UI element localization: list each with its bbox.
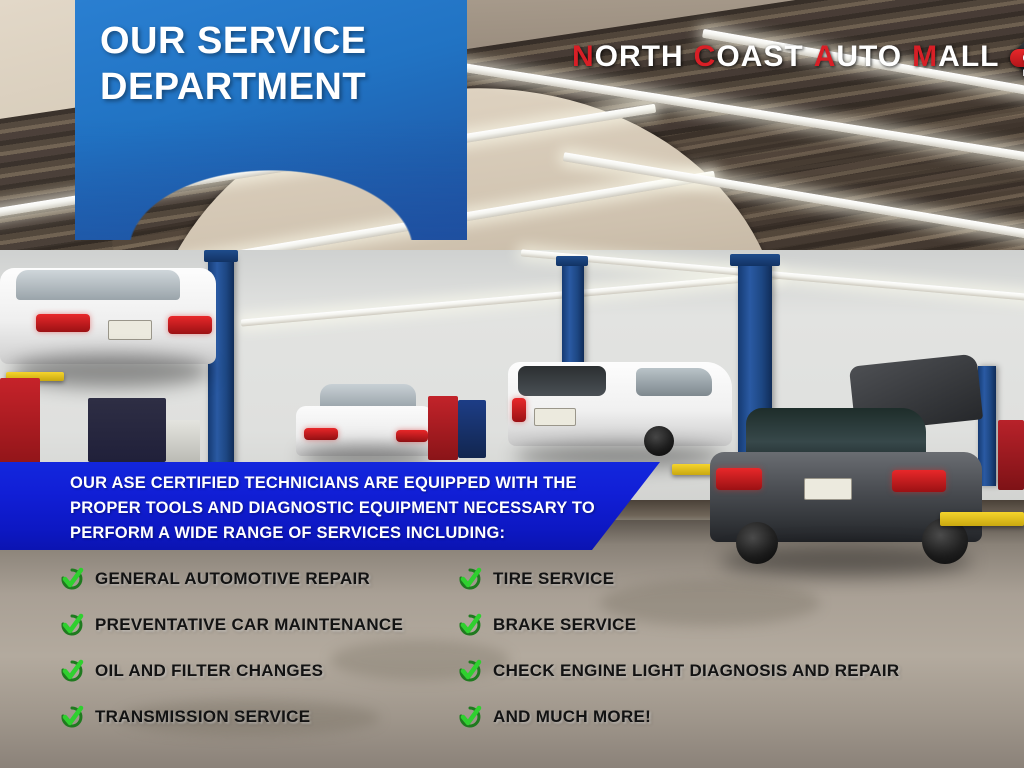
logo-word-auto: AUTO <box>814 40 902 74</box>
page-title-line-1: OUR SERVICE <box>100 20 367 62</box>
stop-over-paying-badge-icon: STOP OVER PAYING <box>1011 28 1024 86</box>
license-plate <box>108 320 152 340</box>
check-icon <box>458 567 482 591</box>
services-checklist: GENERAL AUTOMOTIVE REPAIR PREVENTATIVE C… <box>0 556 1024 736</box>
car-rear-window <box>16 270 180 300</box>
list-item: TRANSMISSION SERVICE <box>60 694 490 740</box>
red-tool-cabinet <box>998 420 1024 490</box>
car-side-window <box>636 368 712 396</box>
page-title-line-2: DEPARTMENT <box>100 64 460 110</box>
vehicle-dark-sedan-trunk-open <box>706 360 1006 578</box>
check-icon <box>458 705 482 729</box>
service-label: TRANSMISSION SERVICE <box>95 707 310 727</box>
blue-drum <box>458 400 486 458</box>
check-icon <box>60 613 84 637</box>
logo-rest-letters: UTO <box>836 40 902 73</box>
car-rear-window <box>518 366 606 396</box>
car-taillight <box>512 398 526 422</box>
shop-equipment <box>88 398 166 462</box>
logo-rest-letters: ORTH <box>595 40 684 73</box>
banner-line-2: PROPER TOOLS AND DIAGNOSTIC EQUIPMENT NE… <box>70 496 630 521</box>
badge-bottom-text: PAYING <box>1011 68 1024 78</box>
check-icon <box>60 659 84 683</box>
check-icon <box>60 705 84 729</box>
red-tool-cabinet <box>428 396 458 460</box>
list-item: GENERAL AUTOMOTIVE REPAIR <box>60 556 490 602</box>
brand-logo[interactable]: NORTH COAST AUTO MALL STOP OVER PAYING <box>572 28 1024 86</box>
car-taillight <box>892 470 946 492</box>
car-taillight <box>168 316 212 334</box>
service-label: CHECK ENGINE LIGHT DIAGNOSIS AND REPAIR <box>493 661 900 681</box>
service-label: PREVENTATIVE CAR MAINTENANCE <box>95 615 403 635</box>
badge-middle-text: OVER <box>1010 51 1024 65</box>
check-icon <box>458 613 482 637</box>
list-item: PREVENTATIVE CAR MAINTENANCE <box>60 602 490 648</box>
logo-cap-letter: N <box>572 40 595 73</box>
license-plate <box>534 408 576 426</box>
car-taillight <box>36 314 90 332</box>
logo-cap-letter: C <box>694 40 717 73</box>
car-taillight <box>304 428 338 440</box>
page-title: OUR SERVICE DEPARTMENT <box>100 18 460 111</box>
car-taillight <box>396 430 428 442</box>
vehicle-white-sedan-lifted <box>0 258 220 386</box>
services-column-right: TIRE SERVICE BRAKE SERVICE <box>458 556 1018 740</box>
list-item: OIL AND FILTER CHANGES <box>60 648 490 694</box>
vehicle-white-sedan-center <box>296 384 436 468</box>
logo-rest-letters: ALL <box>938 40 999 73</box>
vehicle-lift-post-cap <box>556 256 588 266</box>
banner-line-3: PERFORM A WIDE RANGE OF SERVICES INCLUDI… <box>70 521 630 546</box>
badge-top-text: STOP <box>1011 38 1024 48</box>
list-item: CHECK ENGINE LIGHT DIAGNOSIS AND REPAIR <box>458 648 1018 694</box>
vehicle-white-suv-lifted <box>508 358 734 470</box>
list-item: TIRE SERVICE <box>458 556 1018 602</box>
undercarriage-shadow <box>10 354 210 388</box>
license-plate <box>804 478 852 500</box>
services-column-left: GENERAL AUTOMOTIVE REPAIR PREVENTATIVE C… <box>60 556 490 740</box>
description-banner-text: OUR ASE CERTIFIED TECHNICIANS ARE EQUIPP… <box>70 471 630 546</box>
car-taillight <box>716 468 762 490</box>
shop-cart <box>166 420 200 464</box>
logo-rest-letters: OAST <box>716 40 803 73</box>
logo-cap-letter: M <box>912 40 938 73</box>
service-department-graphic: OUR SERVICE DEPARTMENT NORTH COAST AUTO … <box>0 0 1024 768</box>
banner-line-1: OUR ASE CERTIFIED TECHNICIANS ARE EQUIPP… <box>70 471 630 496</box>
service-label: TIRE SERVICE <box>493 569 614 589</box>
lift-arm <box>940 512 1024 526</box>
service-label: OIL AND FILTER CHANGES <box>95 661 323 681</box>
vehicle-lift-post-cap <box>730 254 780 266</box>
list-item: AND MUCH MORE! <box>458 694 1018 740</box>
logo-cap-letter: A <box>814 40 837 73</box>
logo-word-mall: MALL <box>912 40 999 74</box>
logo-word-north: NORTH <box>572 40 684 74</box>
service-label: AND MUCH MORE! <box>493 707 651 727</box>
check-icon <box>60 567 84 591</box>
check-icon <box>458 659 482 683</box>
red-tool-cabinet <box>0 378 40 470</box>
logo-word-coast: COAST <box>694 40 804 74</box>
service-label: GENERAL AUTOMOTIVE REPAIR <box>95 569 370 589</box>
service-label: BRAKE SERVICE <box>493 615 636 635</box>
list-item: BRAKE SERVICE <box>458 602 1018 648</box>
